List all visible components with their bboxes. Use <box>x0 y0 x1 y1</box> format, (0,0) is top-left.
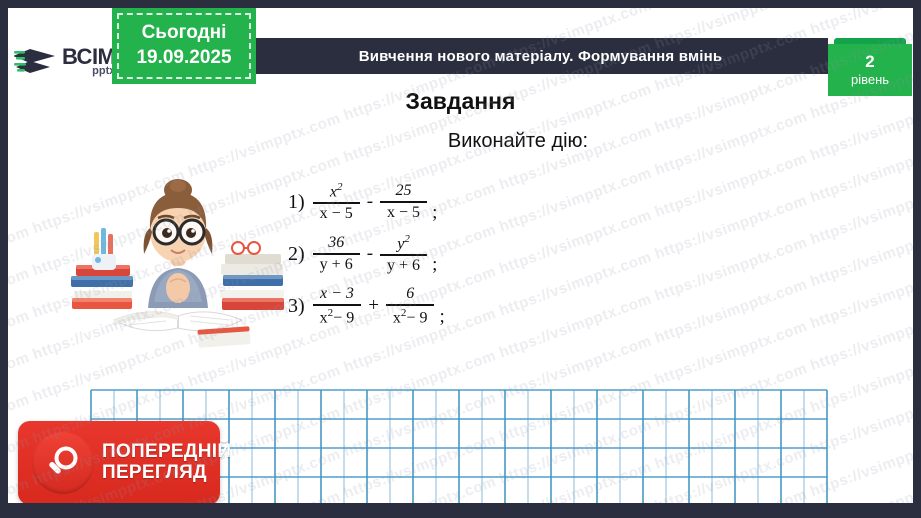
date-badge-value: 19.09.2025 <box>136 46 231 71</box>
math-expression-row: 2)36y + 6-y2y + 6; <box>288 228 445 280</box>
math-terminator: ; <box>432 202 437 224</box>
fraction-second: y2y + 6 <box>380 233 427 276</box>
math-item-number: 3) <box>288 295 305 318</box>
fraction-denominator: x − 5 <box>380 204 427 222</box>
date-badge-label: Сьогодні <box>142 21 227 46</box>
level-badge-number: 2 <box>865 53 874 72</box>
preview-button[interactable]: ПОПЕРЕДНІЙ ПЕРЕГЛЯД <box>18 421 220 503</box>
fraction-denominator: x − 5 <box>313 205 360 223</box>
fraction-bar <box>380 254 427 256</box>
math-terminator: ; <box>432 254 437 276</box>
fraction-numerator: y2 <box>390 233 417 254</box>
girl-studying-illustration <box>70 170 286 350</box>
fraction-numerator: x − 3 <box>313 285 361 303</box>
fraction-numerator: 6 <box>399 285 421 303</box>
magnifier-icon <box>32 432 94 494</box>
fraction-bar <box>380 201 427 203</box>
math-expression-list: 1)x2x − 5-25x − 5;2)36y + 6-y2y + 6;3)x … <box>288 176 445 332</box>
fraction-bar <box>313 202 360 204</box>
page-title: Завдання <box>8 88 913 115</box>
fraction-bar <box>313 253 360 255</box>
header-bar: Вивчення нового матеріалу. Формування вм… <box>253 38 828 74</box>
fraction-denominator: y + 6 <box>313 256 360 274</box>
fraction-denominator: x2− 9 <box>386 307 435 328</box>
level-badge-word: рівень <box>851 72 889 88</box>
graduation-cap-icon <box>14 43 58 79</box>
fraction-second: 6x2− 9 <box>386 285 435 328</box>
preview-label-line2: ПЕРЕГЛЯД <box>102 463 231 484</box>
date-badge-body: Сьогодні 19.09.2025 <box>112 8 256 84</box>
preview-button-label: ПОПЕРЕДНІЙ ПЕРЕГЛЯД <box>102 442 231 483</box>
math-expression-row: 3)x − 3x2− 9+6x2− 9; <box>288 280 445 332</box>
math-expression-row: 1)x2x − 5-25x − 5; <box>288 176 445 228</box>
logo-text-block: ВСІМ pptx <box>62 46 115 77</box>
fraction-denominator: y + 6 <box>380 257 427 275</box>
fraction-second: 25x − 5 <box>380 182 427 222</box>
math-terminator: ; <box>439 306 444 328</box>
math-item-number: 1) <box>288 191 305 214</box>
fraction-first: x2x − 5 <box>313 181 360 224</box>
slide-canvas: https://vsimpptx.com https://vsimpptx.co… <box>8 8 913 503</box>
math-operator: + <box>368 295 379 317</box>
fraction-numerator: x2 <box>323 181 350 202</box>
fraction-denominator: x2− 9 <box>313 307 362 328</box>
date-badge: Сьогодні 19.09.2025 <box>112 8 256 84</box>
math-operator: - <box>367 191 373 213</box>
slide-root: https://vsimpptx.com https://vsimpptx.co… <box>0 0 921 518</box>
header-title: Вивчення нового матеріалу. Формування вм… <box>359 48 723 65</box>
level-badge-body: 2 рівень <box>828 44 912 96</box>
vsim-pptx-logo: ВСІМ pptx <box>14 38 126 84</box>
fraction-numerator: 25 <box>389 182 419 200</box>
page-subtitle: Виконайте дію: <box>348 130 688 153</box>
fraction-first: 36y + 6 <box>313 234 360 274</box>
math-operator: - <box>367 243 373 265</box>
preview-label-line1: ПОПЕРЕДНІЙ <box>102 442 231 463</box>
fraction-numerator: 36 <box>321 234 351 252</box>
math-item-number: 2) <box>288 243 305 266</box>
fraction-first: x − 3x2− 9 <box>313 285 362 328</box>
level-badge: 2 рівень <box>828 38 912 96</box>
fraction-bar <box>313 304 362 306</box>
fraction-bar <box>386 304 435 306</box>
